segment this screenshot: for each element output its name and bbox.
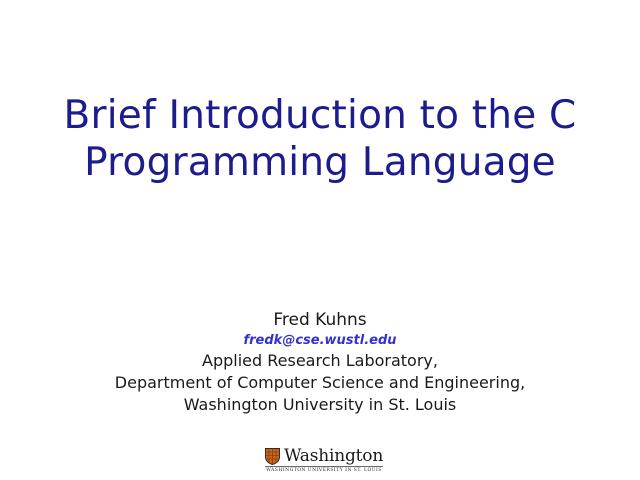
washington-university-shield-icon [265, 448, 280, 465]
title-slide: Brief Introduction to the C Programming … [0, 0, 640, 480]
logo-row: Washington [265, 444, 385, 465]
title-line-1: Brief Introduction to the C [0, 92, 640, 139]
affiliation-line-2: Department of Computer Science and Engin… [0, 372, 640, 394]
logo-tagline: WASHINGTON UNIVERSITY IN ST. LOUIS [265, 466, 383, 474]
affiliation-line-1: Applied Research Laboratory, [0, 350, 640, 372]
author-block: Fred Kuhns fredk@cse.wustl.edu Applied R… [0, 310, 640, 416]
university-logo: Washington WASHINGTON UNIVERSITY IN ST. … [265, 444, 385, 476]
title-line-2: Programming Language [0, 139, 640, 186]
slide-title: Brief Introduction to the C Programming … [0, 92, 640, 186]
logo-wordmark: Washington [284, 448, 383, 465]
author-name: Fred Kuhns [0, 310, 640, 331]
affiliation-line-3: Washington University in St. Louis [0, 394, 640, 416]
author-email-link[interactable]: fredk@cse.wustl.edu [0, 331, 640, 350]
